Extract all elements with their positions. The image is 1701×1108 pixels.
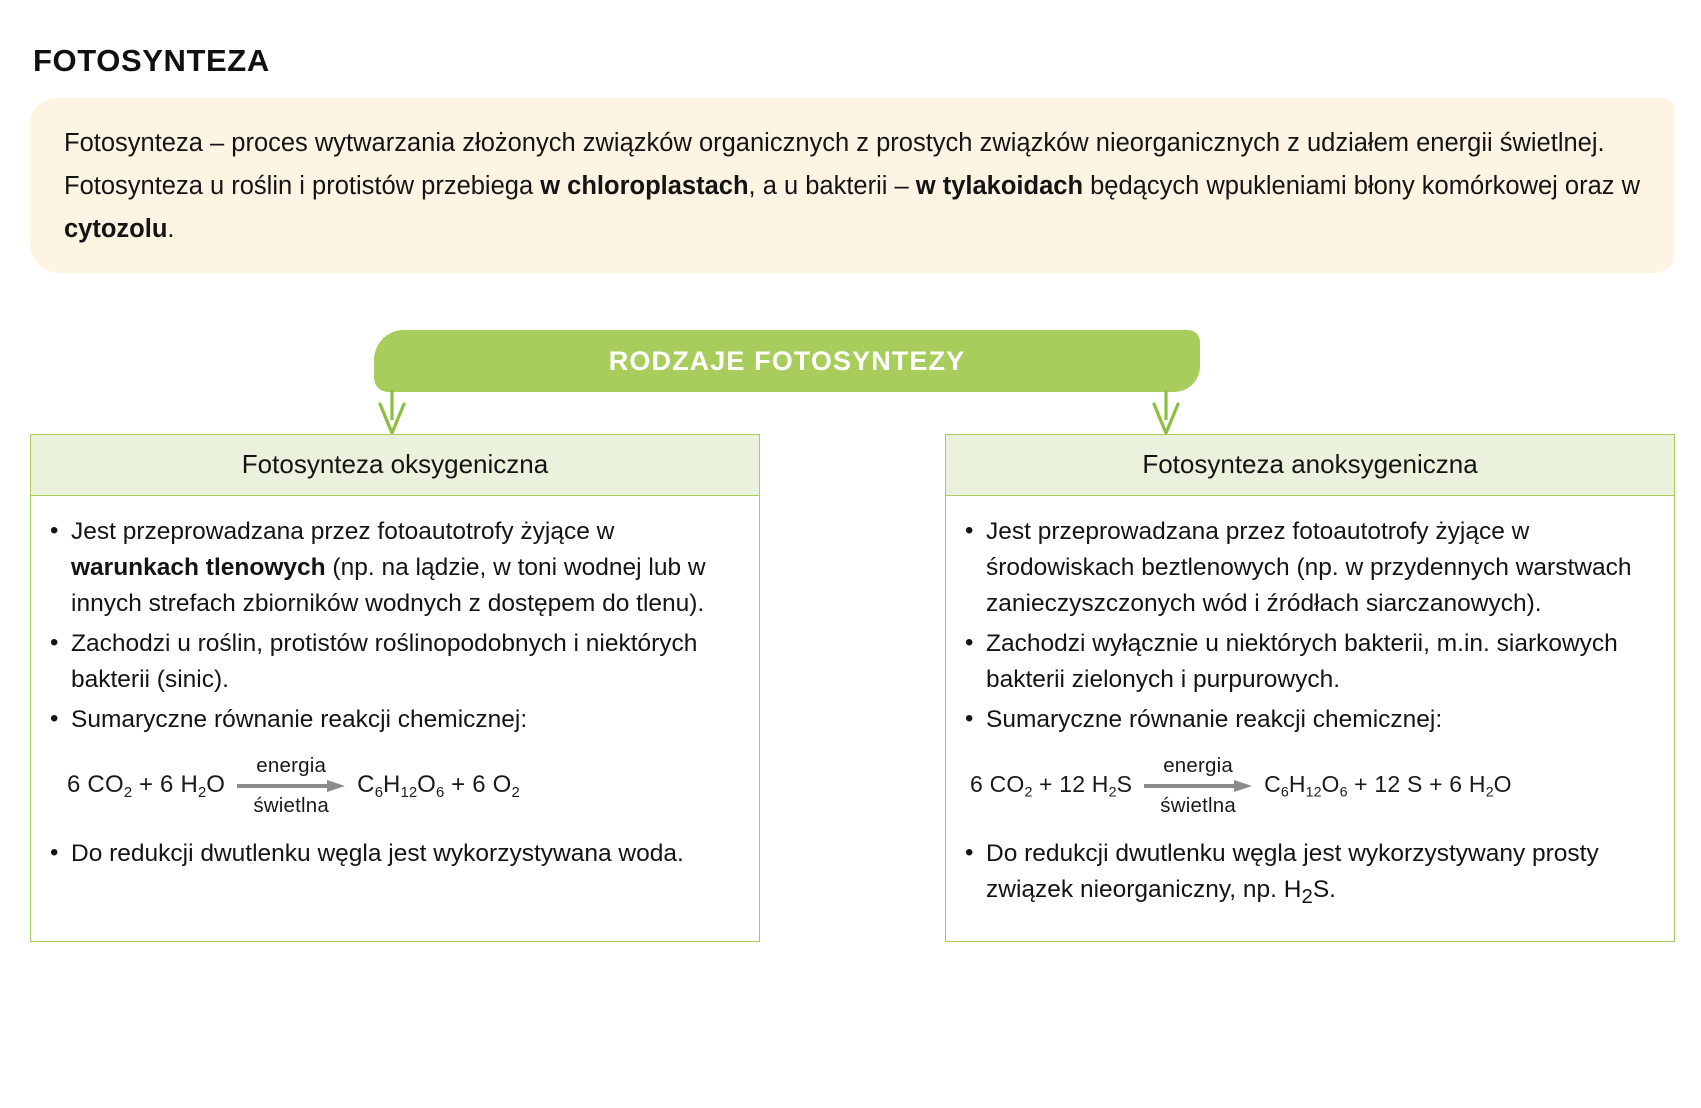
types-banner-label: RODZAJE FOTOSYNTEZY xyxy=(609,346,965,377)
definition-body-4: . xyxy=(167,215,174,243)
eq-sub: 6 xyxy=(1281,785,1289,801)
eq-token: + 12 H xyxy=(1032,771,1108,797)
eq-sub: 2 xyxy=(124,785,132,801)
equation-arrow-above: energia xyxy=(1163,754,1233,778)
bullet-list-oxygenic-top: Jest przeprowadzana przez fotoautotrofy … xyxy=(45,514,739,738)
eq-sub: 12 xyxy=(401,785,418,801)
bullet-text: Zachodzi wyłącznie u niektórych bakterii… xyxy=(986,630,1618,693)
column-anoxygenic: Fotosynteza anoksygeniczna Jest przeprow… xyxy=(945,434,1675,942)
eq-token: O xyxy=(206,771,225,798)
equation-products: C6H12O6 + 6 O2 xyxy=(357,771,520,801)
eq-sub: 2 xyxy=(512,785,520,801)
list-item: Zachodzi u roślin, protistów roślinopodo… xyxy=(45,626,739,698)
eq-sub: 12 xyxy=(1306,785,1322,801)
list-item: Sumaryczne równanie reakcji chemicznej: xyxy=(45,702,739,738)
eq-token: 6 CO xyxy=(67,771,124,798)
eq-sub: 2 xyxy=(1109,785,1117,801)
arrow-right-head xyxy=(1154,404,1178,433)
arrow-left-head xyxy=(380,404,404,433)
definition-body-3: będących wpukleniami błony komórkowej or… xyxy=(1083,172,1640,200)
equation-products: C6H12O6 + 12 S + 6 H2O xyxy=(1264,771,1512,801)
bullet-text: Zachodzi u roślin, protistów roślinopodo… xyxy=(71,630,697,693)
eq-sub: 6 xyxy=(375,785,383,801)
list-item: Jest przeprowadzana przez fotoautotrofy … xyxy=(960,514,1654,622)
eq-token: S xyxy=(1117,771,1133,797)
column-body-anoxygenic: Jest przeprowadzana przez fotoautotrofy … xyxy=(946,496,1674,941)
definition-bold-tylakoidy: w tylakoidach xyxy=(916,172,1083,200)
eq-token: + 6 O xyxy=(444,771,511,798)
eq-token: C xyxy=(1264,771,1281,797)
eq-token: O xyxy=(1494,771,1512,797)
definition-callout: Fotosynteza – proces wytwarzania złożony… xyxy=(30,98,1675,273)
eq-sub: 6 xyxy=(1340,785,1348,801)
list-item: Zachodzi wyłącznie u niektórych bakterii… xyxy=(960,626,1654,698)
types-banner: RODZAJE FOTOSYNTEZY xyxy=(374,330,1200,392)
definition-dash: – xyxy=(203,129,231,157)
column-body-oxygenic: Jest przeprowadzana przez fotoautotrofy … xyxy=(31,496,759,898)
equation-oxygenic: 6 CO2 + 6 H2O energia świetlna C6H12O6 +… xyxy=(45,754,739,818)
page-title: FOTOSYNTEZA xyxy=(33,43,270,79)
definition-bold-cytozol: cytozolu xyxy=(64,215,167,243)
bullet-bold: warunkach tlenowych xyxy=(71,554,326,581)
column-oxygenic: Fotosynteza oksygeniczna Jest przeprowad… xyxy=(30,434,760,942)
eq-token: C xyxy=(357,771,375,798)
list-item: Sumaryczne równanie reakcji chemicznej: xyxy=(960,702,1654,738)
comparison-columns: Fotosynteza oksygeniczna Jest przeprowad… xyxy=(30,434,1675,942)
list-item: Do redukcji dwutlenku węgla jest wykorzy… xyxy=(45,836,739,872)
definition-term: Fotosynteza xyxy=(64,129,203,157)
equation-arrow-below: świetlna xyxy=(253,794,329,818)
bullet-text: Sumaryczne równanie reakcji chemicznej: xyxy=(986,706,1442,733)
equation-arrow: energia świetlna xyxy=(235,754,347,818)
equation-arrow-below: świetlna xyxy=(1160,794,1236,818)
types-banner-pill: RODZAJE FOTOSYNTEZY xyxy=(374,330,1200,392)
definition-bold-chloroplasty: w chloroplastach xyxy=(540,172,748,200)
eq-token: H xyxy=(383,771,401,798)
bullet-text: Sumaryczne równanie reakcji chemicznej: xyxy=(71,706,527,733)
eq-token: + 6 H xyxy=(132,771,198,798)
eq-token: 6 CO xyxy=(970,771,1024,797)
eq-token: O xyxy=(417,771,436,798)
definition-text: Fotosynteza – proces wytwarzania złożony… xyxy=(64,122,1641,251)
equation-anoxygenic: 6 CO2 + 12 H2S energia świetlna C6H12O6 … xyxy=(960,754,1654,818)
eq-token: O xyxy=(1322,771,1340,797)
bullet-list-anoxygenic-bottom: Do redukcji dwutlenku węgla jest wykorzy… xyxy=(960,836,1654,915)
eq-token: H xyxy=(1289,771,1306,797)
equation-arrow-above: energia xyxy=(256,754,326,778)
equation-reactants: 6 CO2 + 12 H2S xyxy=(970,771,1132,801)
equation-reactants: 6 CO2 + 6 H2O xyxy=(67,771,225,801)
bullet-text: Do redukcji dwutlenku węgla jest wykorzy… xyxy=(986,840,1599,903)
bullet-text: Jest przeprowadzana przez fotoautotrofy … xyxy=(986,518,1631,617)
arrow-right-icon xyxy=(1144,779,1252,793)
eq-sub: 2 xyxy=(1486,785,1494,801)
column-header-oxygenic: Fotosynteza oksygeniczna xyxy=(31,435,759,496)
list-item: Jest przeprowadzana przez fotoautotrofy … xyxy=(45,514,739,622)
bullet-list-oxygenic-bottom: Do redukcji dwutlenku węgla jest wykorzy… xyxy=(45,836,739,872)
column-header-anoxygenic: Fotosynteza anoksygeniczna xyxy=(946,435,1674,496)
bullet-text: Jest przeprowadzana przez fotoautotrofy … xyxy=(71,518,614,545)
eq-sub: 6 xyxy=(436,785,444,801)
definition-body-2: , a u bakterii – xyxy=(749,172,916,200)
eq-token: + 12 S + 6 H xyxy=(1348,771,1486,797)
arrow-right-icon xyxy=(237,779,345,793)
bullet-list-anoxygenic-top: Jest przeprowadzana przez fotoautotrofy … xyxy=(960,514,1654,738)
bullet-text: Do redukcji dwutlenku węgla jest wykorzy… xyxy=(71,840,684,867)
equation-arrow: energia świetlna xyxy=(1142,754,1254,818)
list-item: Do redukcji dwutlenku węgla jest wykorzy… xyxy=(960,836,1654,915)
bullet-text-inner: Do redukcji dwutlenku węgla jest wykorzy… xyxy=(986,840,1599,903)
